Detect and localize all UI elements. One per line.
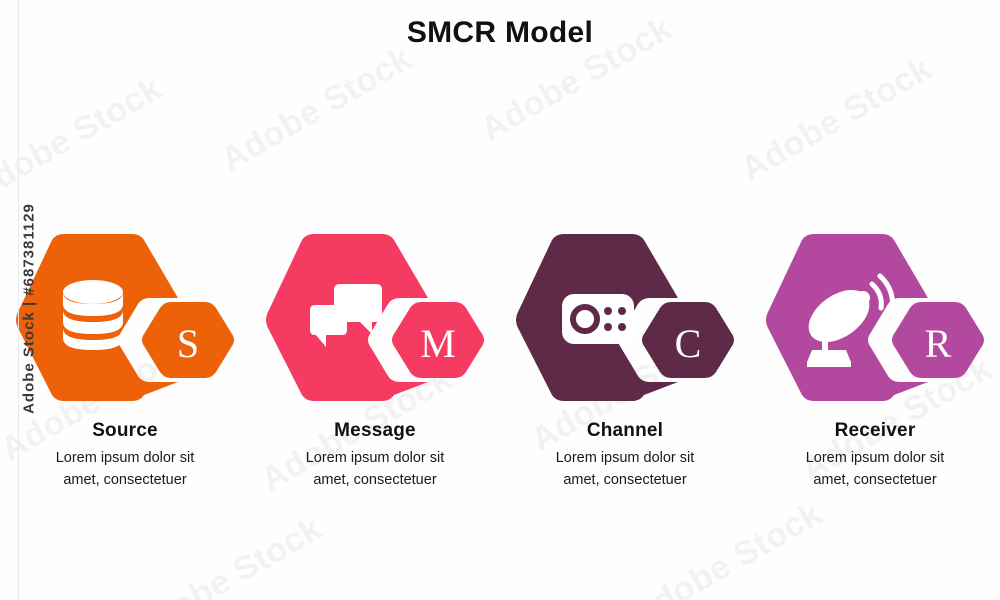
watermark-diagonal: Adobe Stock (215, 39, 419, 179)
step-desc-channel-line2: amet, consectetuer (500, 469, 750, 491)
hexagon-group-source: S (0, 228, 250, 408)
step-item-source[interactable]: S Source Lorem ipsum dolor sit amet, con… (0, 228, 250, 518)
step-letter-message: M (395, 320, 481, 367)
step-title-message: Message (250, 420, 500, 442)
hexagon-shape-message (250, 228, 500, 408)
hexagon-shape-receiver (750, 228, 1000, 408)
watermark-diagonal: Adobe Stock (735, 49, 939, 189)
hexagon-shape-source (0, 228, 250, 408)
caption-message: Message Lorem ipsum dolor sit amet, cons… (250, 420, 500, 492)
step-desc-message-line2: amet, consectetuer (250, 469, 500, 491)
step-letter-receiver: R (895, 320, 981, 367)
watermark-diagonal: Adobe Stock (125, 509, 329, 600)
step-desc-receiver-line2: amet, consectetuer (750, 469, 1000, 491)
watermark-side-label: Adobe Stock | #687381129 (21, 184, 38, 434)
step-item-channel[interactable]: C Channel Lorem ipsum dolor sit amet, co… (500, 228, 750, 518)
step-desc-message-line1: Lorem ipsum dolor sit (250, 447, 500, 469)
hexagon-large-source (16, 234, 178, 401)
step-desc-channel-line1: Lorem ipsum dolor sit (500, 447, 750, 469)
caption-receiver: Receiver Lorem ipsum dolor sit amet, con… (750, 420, 1000, 492)
watermark-divider (18, 0, 19, 600)
hexagon-group-channel: C (500, 228, 750, 408)
caption-channel: Channel Lorem ipsum dolor sit amet, cons… (500, 420, 750, 492)
step-title-channel: Channel (500, 420, 750, 442)
hexagon-group-receiver: R (750, 228, 1000, 408)
step-desc-receiver-line1: Lorem ipsum dolor sit (750, 447, 1000, 469)
step-desc-source-line1: Lorem ipsum dolor sit (0, 447, 250, 469)
steps-row: S Source Lorem ipsum dolor sit amet, con… (0, 228, 1000, 518)
hexagon-shape-channel (500, 228, 750, 408)
caption-source: Source Lorem ipsum dolor sit amet, conse… (0, 420, 250, 492)
infographic-canvas: Adobe Stock Adobe Stock Adobe Stock Adob… (0, 0, 1000, 600)
step-desc-source-line2: amet, consectetuer (0, 469, 250, 491)
step-letter-source: S (145, 320, 231, 367)
step-letter-channel: C (645, 320, 731, 367)
step-item-message[interactable]: M Message Lorem ipsum dolor sit amet, co… (250, 228, 500, 518)
step-item-receiver[interactable]: R Receiver Lorem ipsum dolor sit amet, c… (750, 228, 1000, 518)
step-title-source: Source (0, 420, 250, 442)
remote-control-icon (562, 294, 634, 344)
page-title: SMCR Model (0, 16, 1000, 50)
step-title-receiver: Receiver (750, 420, 1000, 442)
hexagon-group-message: M (250, 228, 500, 408)
